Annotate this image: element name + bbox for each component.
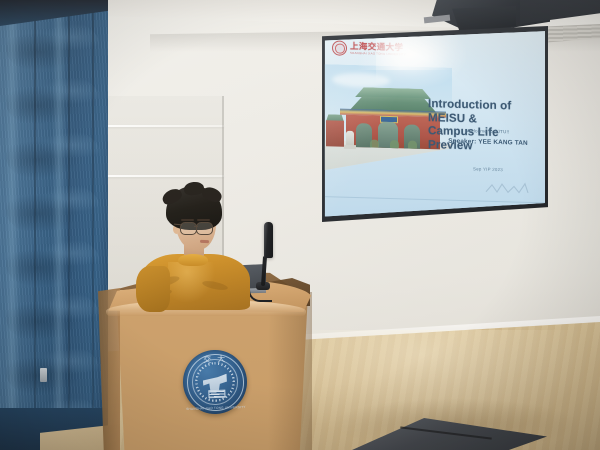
curtain-highlight [4, 0, 20, 450]
photo-shrub [408, 141, 417, 149]
slide-title-line-1: Introduction of MEISU & [428, 97, 545, 128]
lecture-hall-photo: 上海交通大学 SHANGHAI JIAO TONG UNIVERSITY [0, 0, 600, 450]
slide-footer-rule [324, 196, 545, 203]
photo-shrub [390, 140, 399, 148]
presenter [128, 186, 248, 304]
photo-shrub [370, 139, 379, 147]
university-seal-icon [332, 40, 347, 55]
presenter-eyebrow [181, 219, 194, 221]
emblem-chinese-text: 交大 [182, 353, 246, 366]
presenter-collar [178, 254, 208, 266]
curtain-clip [40, 368, 47, 382]
slide-watermark-icon [484, 181, 540, 197]
presenter-left-arm [136, 266, 170, 312]
curtain-highlight [52, 0, 66, 450]
slide-university-logo: 上海交通大学 SHANGHAI JIAO TONG UNIVERSITY [332, 40, 406, 57]
curtain-fold [92, 0, 94, 450]
projection-screen: 上海交通大学 SHANGHAI JIAO TONG UNIVERSITY [316, 26, 548, 222]
screen-surface: 上海交通大学 SHANGHAI JIAO TONG UNIVERSITY [320, 30, 545, 218]
slide-logo-english: SHANGHAI JIAO TONG UNIVERSITY [350, 52, 406, 56]
slide-date-line: Sep YIP 2023 [436, 165, 540, 173]
wall-panel-seam [106, 175, 224, 177]
glasses-icon [180, 222, 197, 235]
presenter-eyebrow [197, 219, 210, 221]
microphone-icon [264, 222, 273, 258]
glasses-icon [196, 222, 213, 235]
wall-panel-seam [106, 125, 224, 127]
gate-side-wall [326, 120, 344, 147]
curtain-fold [34, 0, 36, 450]
emblem-books-icon [208, 390, 225, 399]
slide-content: 上海交通大学 SHANGHAI JIAO TONG UNIVERSITY [320, 30, 545, 218]
presenter-mouth [200, 240, 209, 243]
curtain-fold [68, 0, 70, 450]
glasses-bridge [194, 226, 198, 227]
stone-lion-base [344, 145, 356, 149]
